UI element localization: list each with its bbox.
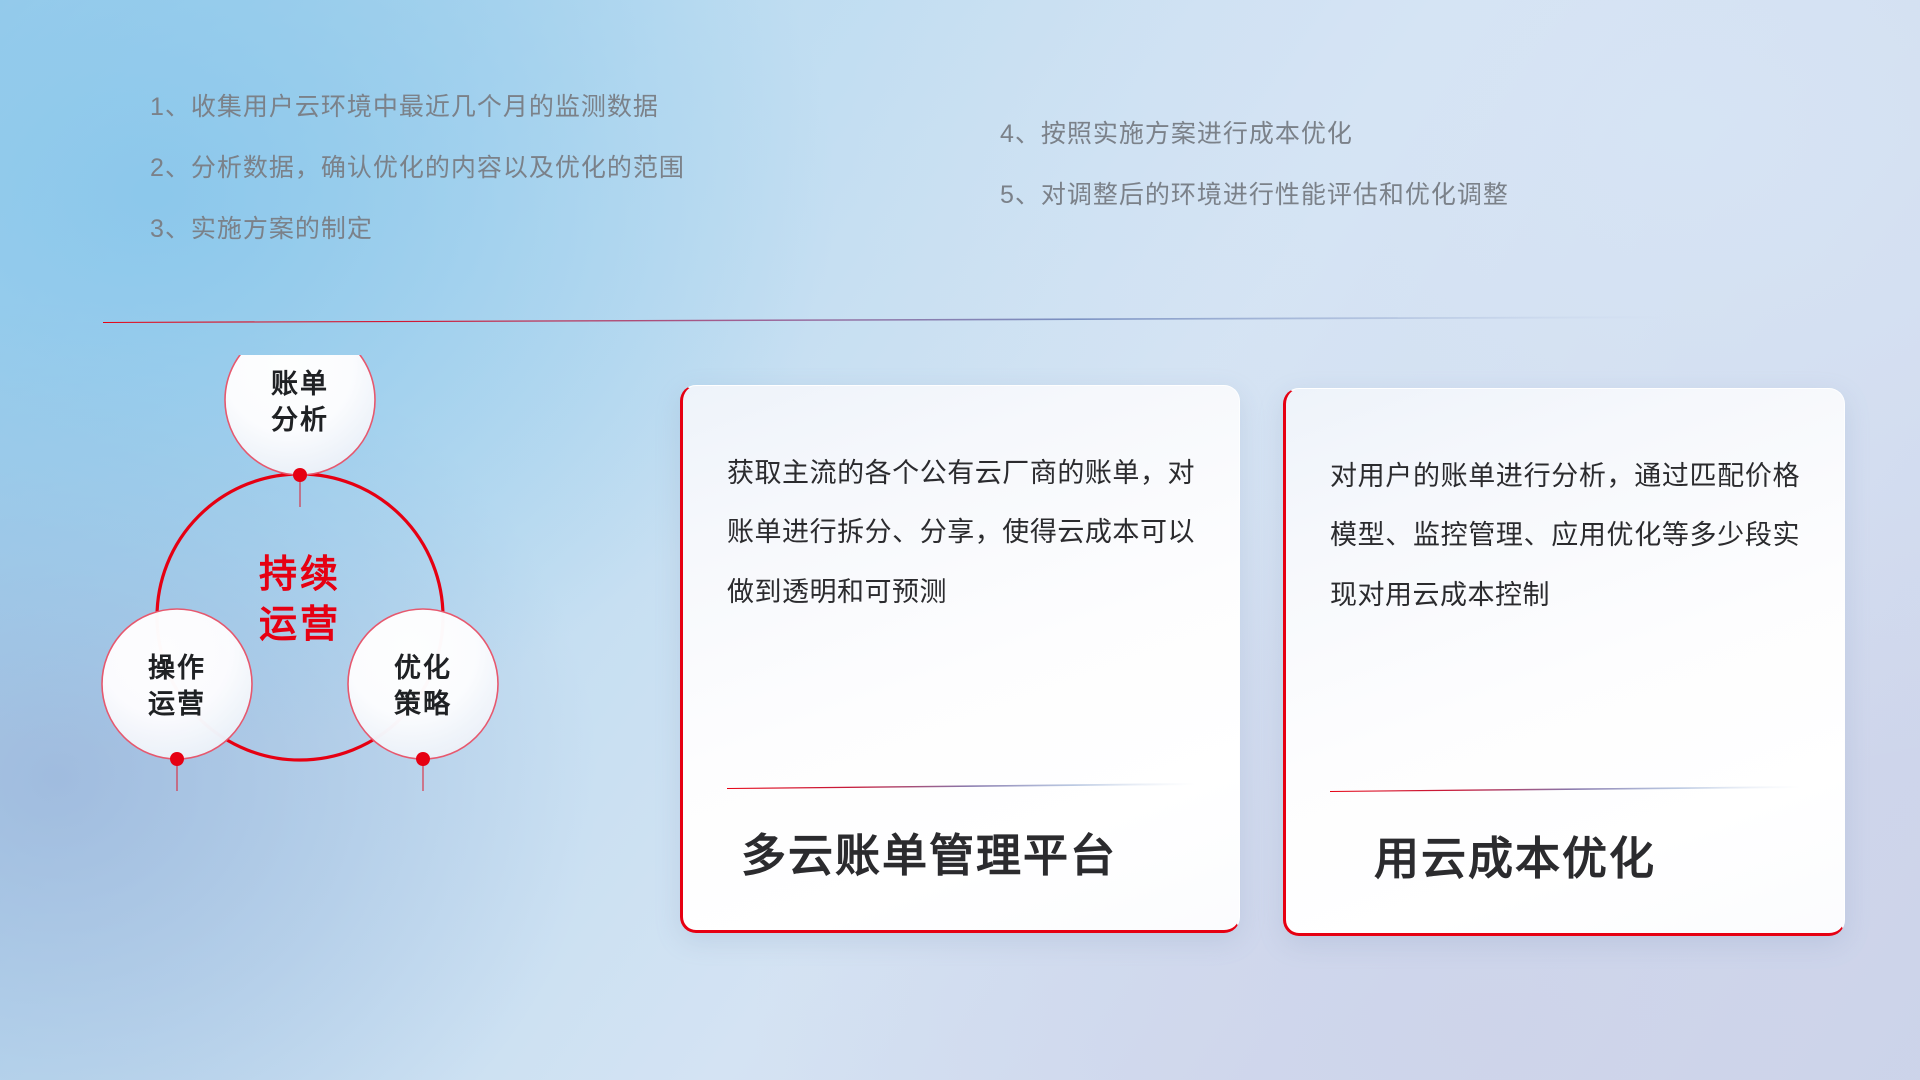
venn-node-bottom-right-line1: 优化 <box>394 653 452 683</box>
step-item: 2、分析数据，确认优化的内容以及优化的范围 <box>150 156 685 181</box>
venn-node-bottom-left-line2: 运营 <box>148 689 206 719</box>
venn-node-bottom-left[interactable]: 操作 运营 <box>102 609 252 759</box>
venn-node-top-line1: 账单 <box>271 369 329 399</box>
venn-node-bottom-left-line1: 操作 <box>148 653 206 683</box>
card-title: 用云成本优化 <box>1330 792 1800 881</box>
steps-left-column: 1、收集用户云环境中最近几个月的监测数据 2、分析数据，确认优化的内容以及优化的… <box>150 95 685 278</box>
step-item: 4、按照实施方案进行成本优化 <box>1000 122 1509 147</box>
step-item: 3、实施方案的制定 <box>150 217 685 242</box>
card-title: 多云账单管理平台 <box>727 789 1195 878</box>
section-divider <box>103 313 1663 323</box>
venn-node-top-line2: 分析 <box>271 405 329 435</box>
venn-dot-bottom-right <box>416 752 430 766</box>
steps-right-column: 4、按照实施方案进行成本优化 5、对调整后的环境进行性能评估和优化调整 <box>1000 122 1509 244</box>
card-description: 获取主流的各个公有云厂商的账单，对账单进行拆分、分享，使得云成本可以做到透明和可… <box>727 444 1195 622</box>
venn-center-label-line2: 运营 <box>259 604 341 646</box>
card-divider <box>727 781 1195 789</box>
continuous-operation-diagram: 账单 分析 操作 运营 优化 策略 持续 运营 <box>95 355 615 885</box>
venn-node-bottom-right[interactable]: 优化 策略 <box>348 609 498 759</box>
venn-node-bottom-right-line2: 策略 <box>394 688 452 719</box>
venn-dot-top <box>293 468 307 482</box>
card-multi-cloud-billing[interactable]: 获取主流的各个公有云厂商的账单，对账单进行拆分、分享，使得云成本可以做到透明和可… <box>680 385 1240 933</box>
venn-node-top[interactable]: 账单 分析 <box>225 355 375 475</box>
card-cloud-cost-optimization[interactable]: 对用户的账单进行分析，通过匹配价格模型、监控管理、应用优化等多少段实现对用云成本… <box>1283 388 1845 936</box>
venn-center-label-line1: 持续 <box>259 554 341 596</box>
venn-dot-bottom-left <box>170 752 184 766</box>
card-description: 对用户的账单进行分析，通过匹配价格模型、监控管理、应用优化等多少段实现对用云成本… <box>1330 447 1800 625</box>
card-divider <box>1330 784 1800 792</box>
step-item: 5、对调整后的环境进行性能评估和优化调整 <box>1000 183 1509 208</box>
step-item: 1、收集用户云环境中最近几个月的监测数据 <box>150 95 685 120</box>
